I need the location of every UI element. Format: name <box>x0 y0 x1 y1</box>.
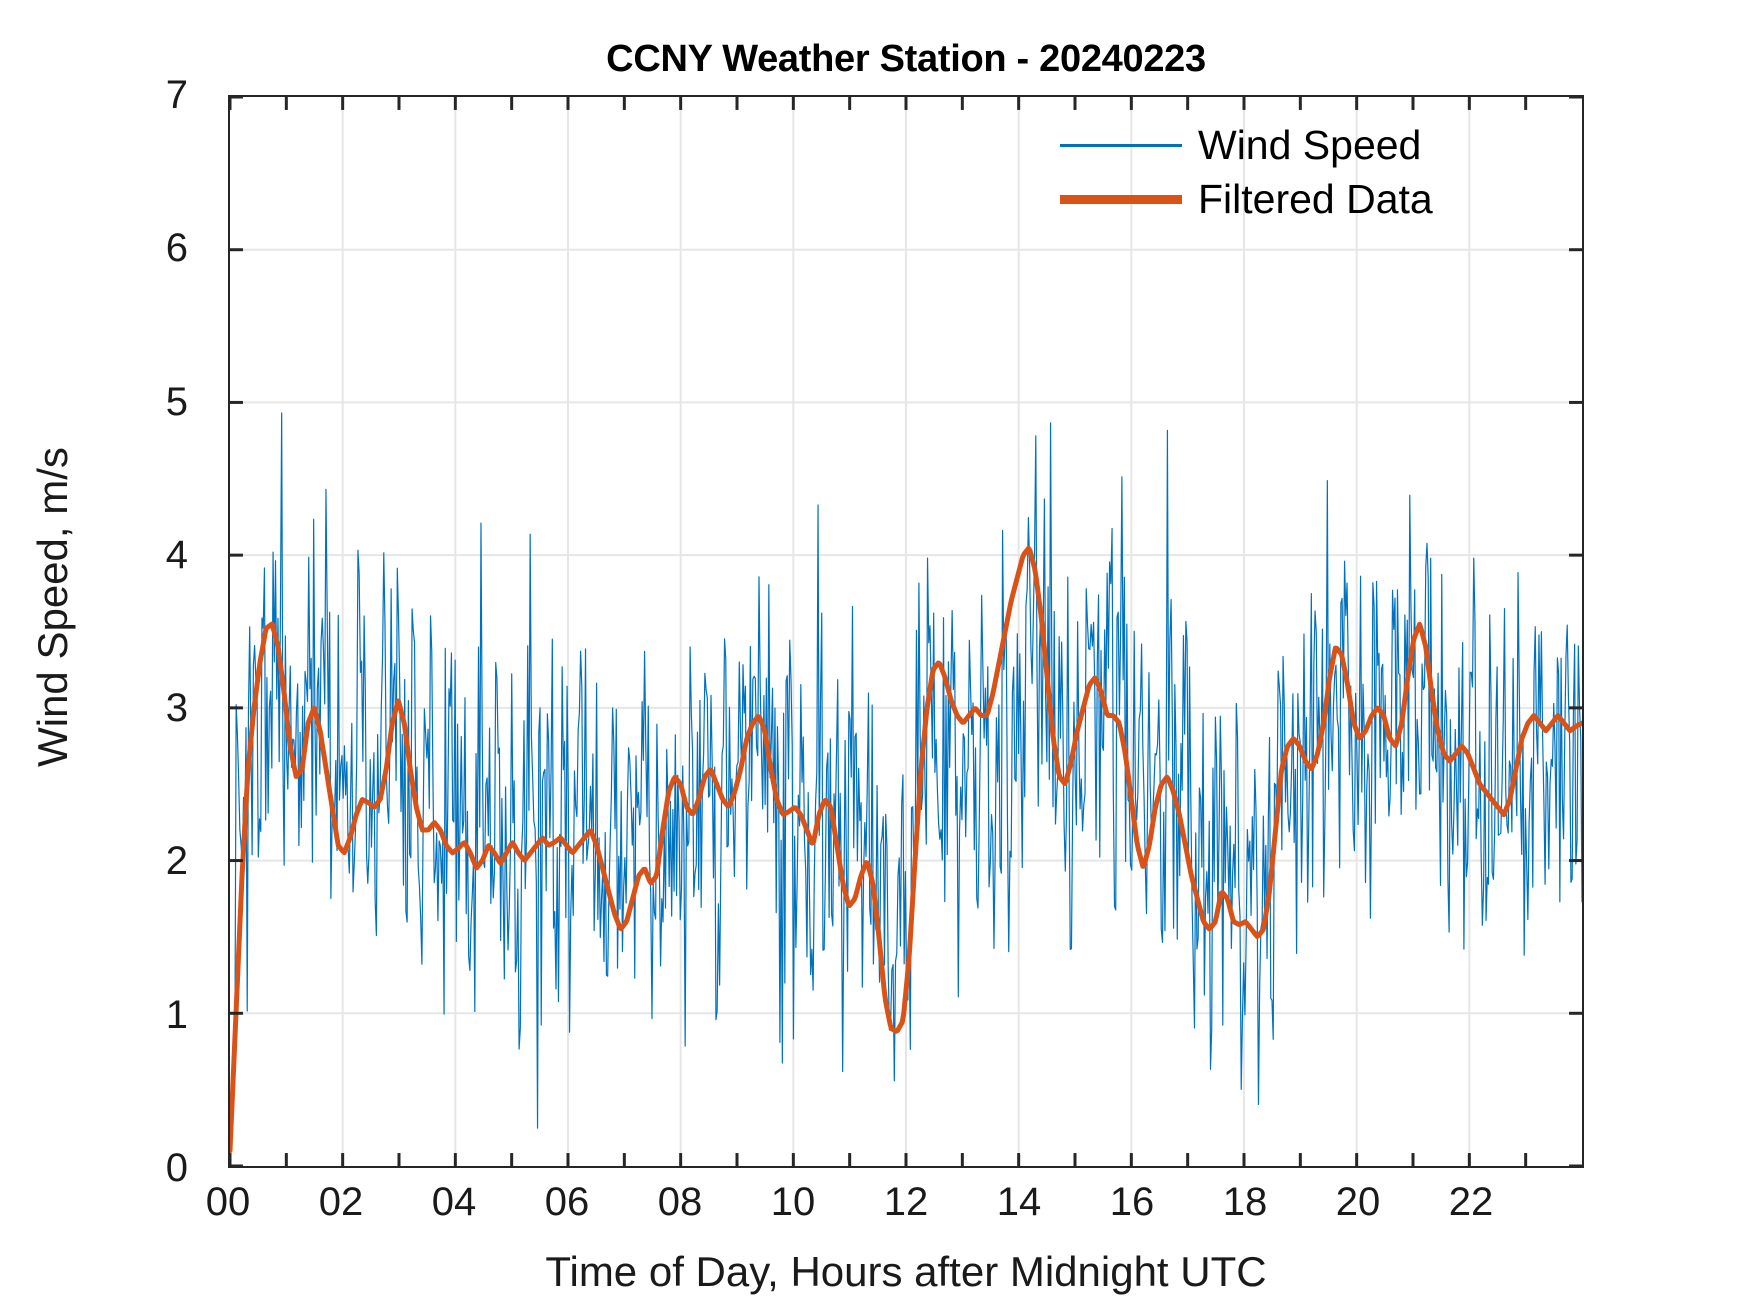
x-tick-label: 06 <box>545 1182 590 1222</box>
y-tick-label: 3 <box>166 688 188 728</box>
y-tick-label: 2 <box>166 841 188 881</box>
y-tick-label: 1 <box>166 995 188 1035</box>
legend-color-line <box>1060 195 1182 204</box>
chart-legend[interactable]: Wind SpeedFiltered Data <box>1060 118 1560 226</box>
x-tick-label: 08 <box>658 1182 703 1222</box>
chart-title: CCNY Weather Station - 20240223 <box>228 38 1584 81</box>
x-tick-label: 12 <box>884 1182 929 1222</box>
x-tick-label: 22 <box>1449 1182 1494 1222</box>
y-tick-label: 4 <box>166 535 188 575</box>
legend-label: Wind Speed <box>1182 122 1421 169</box>
x-tick-label: 00 <box>206 1182 251 1222</box>
y-tick-label: 0 <box>166 1148 188 1188</box>
legend-label: Filtered Data <box>1182 176 1433 223</box>
legend-line-swatch <box>1060 195 1182 204</box>
x-tick-label: 14 <box>997 1182 1042 1222</box>
x-axis-label: Time of Day, Hours after Midnight UTC <box>228 1248 1584 1296</box>
y-tick-label: 6 <box>166 228 188 268</box>
chart-figure: CCNY Weather Station - 20240223 01234567… <box>0 0 1750 1313</box>
x-tick-label: 16 <box>1110 1182 1155 1222</box>
x-tick-label: 18 <box>1223 1182 1268 1222</box>
legend-color-line <box>1060 144 1182 147</box>
x-tick-label: 04 <box>432 1182 477 1222</box>
y-axis-label: Wind Speed, m/s <box>29 307 77 907</box>
y-tick-label: 5 <box>166 382 188 422</box>
x-tick-label: 10 <box>771 1182 816 1222</box>
legend-line-swatch <box>1060 144 1182 147</box>
x-tick-label: 20 <box>1336 1182 1381 1222</box>
x-tick-label: 02 <box>319 1182 364 1222</box>
legend-item-filtered-data[interactable]: Filtered Data <box>1060 172 1560 226</box>
legend-item-wind-speed[interactable]: Wind Speed <box>1060 118 1560 172</box>
y-tick-label: 7 <box>166 75 188 115</box>
plot-area[interactable] <box>228 95 1584 1168</box>
plot-svg <box>230 97 1582 1166</box>
